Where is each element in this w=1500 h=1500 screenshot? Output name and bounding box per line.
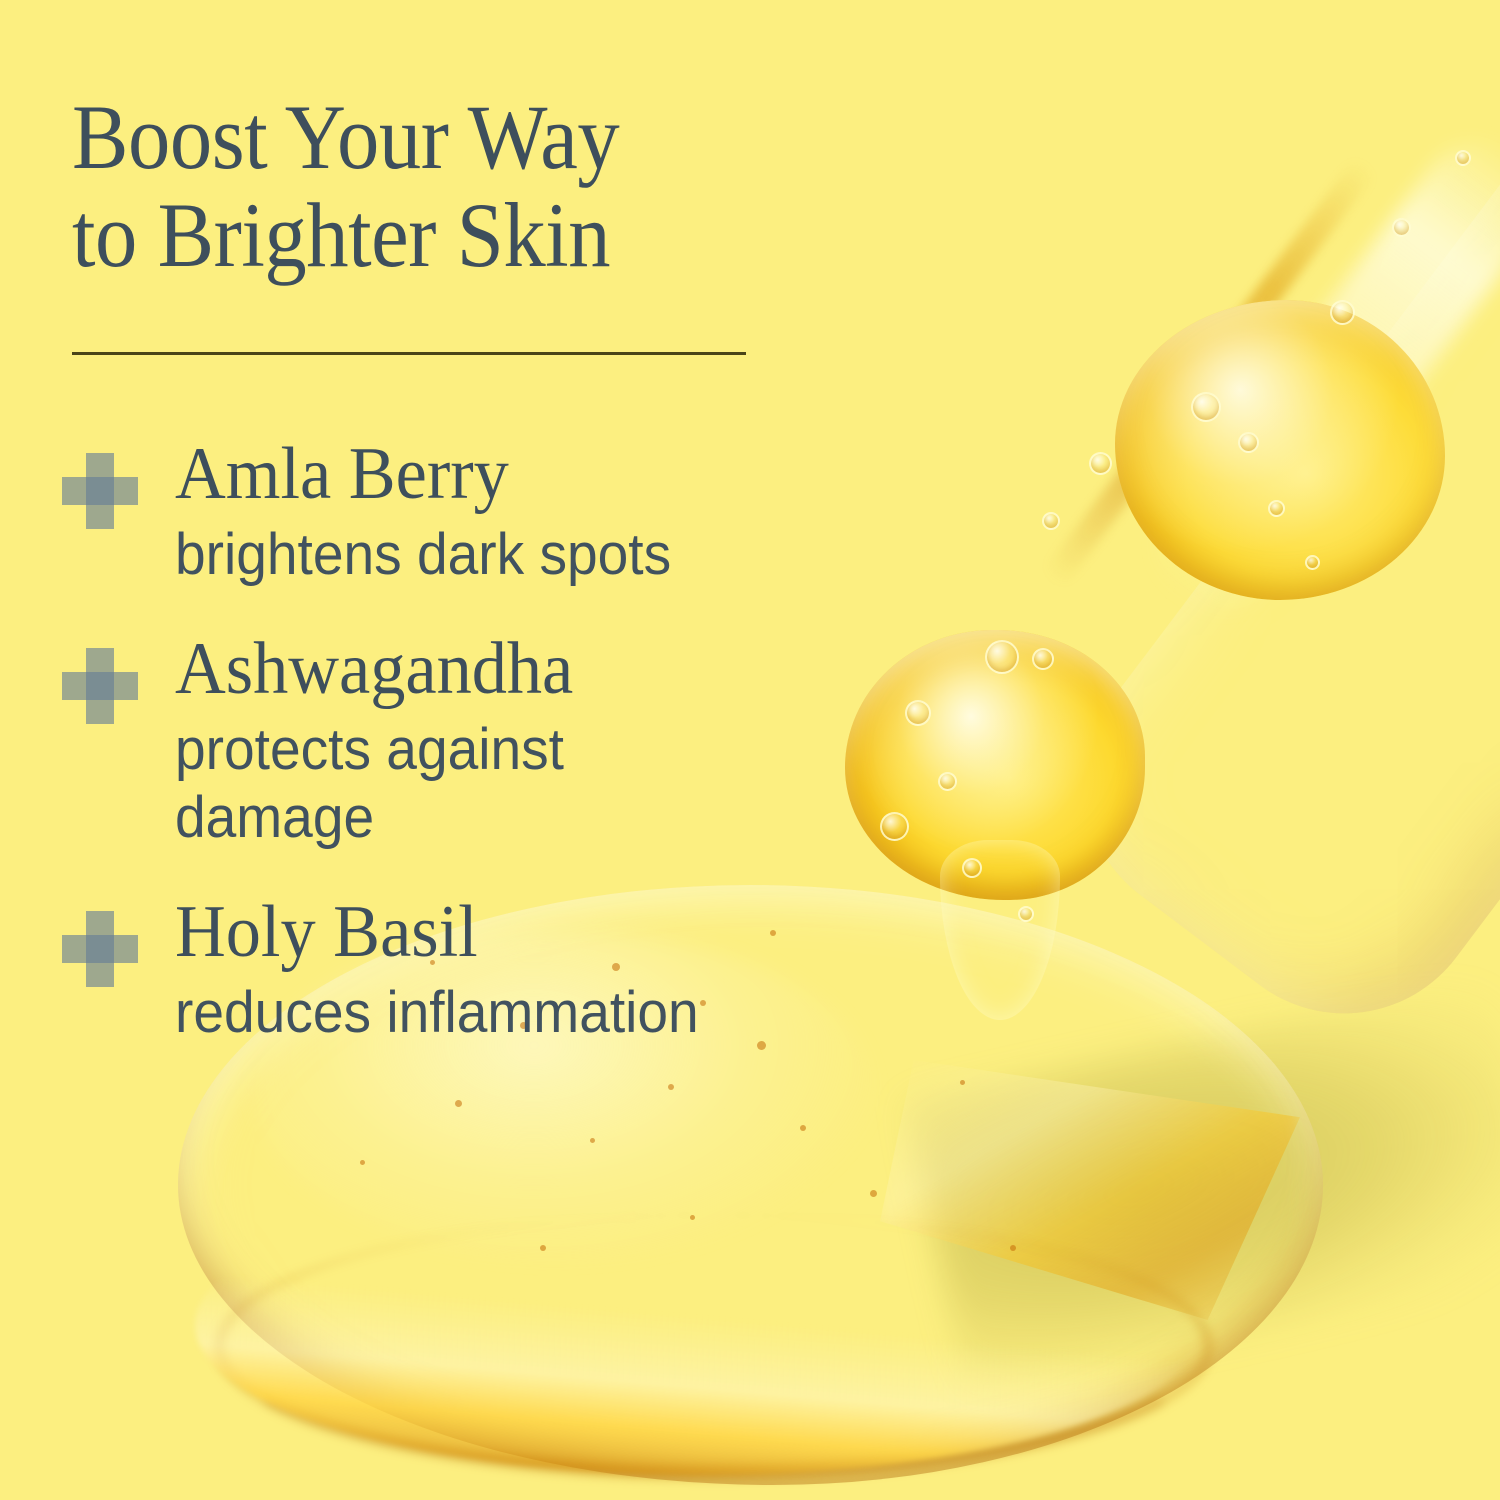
plus-icon-vertical-bar [86, 648, 114, 724]
list-item: Holy Basil reduces inflammation [0, 895, 960, 1046]
page-title: Boost Your Wayto Brighter Skin [72, 88, 808, 285]
serum-upper-bulb [1115, 300, 1445, 600]
bubble [962, 858, 982, 878]
pool-shadow [905, 976, 1500, 1394]
bubble [1191, 392, 1221, 422]
benefit-title: Holy Basil [175, 895, 921, 969]
serum-stream [1028, 0, 1500, 1069]
bubble [1330, 300, 1355, 325]
serum-pool-facet [880, 1060, 1300, 1320]
plus-icon [62, 453, 138, 529]
divider [72, 352, 746, 355]
plus-icon-vertical-bar [86, 453, 114, 529]
bubble [1238, 432, 1259, 453]
serum-stream-edge [1043, 157, 1377, 588]
bubble [1032, 648, 1054, 670]
benefit-description: brightens dark spots [175, 521, 921, 588]
bubble [1455, 150, 1471, 166]
serum-stream-highlight [1132, 117, 1500, 636]
bubble [1042, 512, 1060, 530]
speck [960, 1080, 965, 1085]
speck [590, 1138, 595, 1143]
bubble [1089, 452, 1112, 475]
serum-pool-rim-shadow [215, 1215, 1213, 1479]
speck [800, 1125, 806, 1131]
bubble [1392, 218, 1411, 237]
speck [540, 1245, 546, 1251]
plus-icon [62, 648, 138, 724]
product-benefit-card: Boost Your Wayto Brighter Skin Amla Berr… [0, 0, 1500, 1500]
headline-line-2: to Brighter Skin [72, 184, 610, 286]
benefit-description: reduces inflammation [175, 979, 921, 1046]
bubble [1268, 500, 1285, 517]
plus-icon-vertical-bar [86, 911, 114, 987]
plus-icon [62, 911, 138, 987]
benefit-title: Ashwagandha [175, 632, 921, 706]
speck [870, 1190, 877, 1197]
bubble [1018, 906, 1034, 922]
speck [690, 1215, 695, 1220]
list-item: Amla Berry brightens dark spots [0, 437, 960, 588]
serum-pool-rim-light [195, 1175, 1205, 1475]
benefit-description: protects against damage [175, 716, 707, 851]
speck [360, 1160, 365, 1165]
benefit-list: Amla Berry brightens dark spots Ashwagan… [0, 437, 960, 1090]
speck [455, 1100, 462, 1107]
benefit-title: Amla Berry [175, 437, 921, 511]
speck [1010, 1245, 1016, 1251]
bubble [1305, 555, 1320, 570]
bubble [985, 640, 1019, 674]
headline-line-1: Boost Your Way [72, 86, 619, 188]
list-item: Ashwagandha protects against damage [0, 632, 960, 851]
